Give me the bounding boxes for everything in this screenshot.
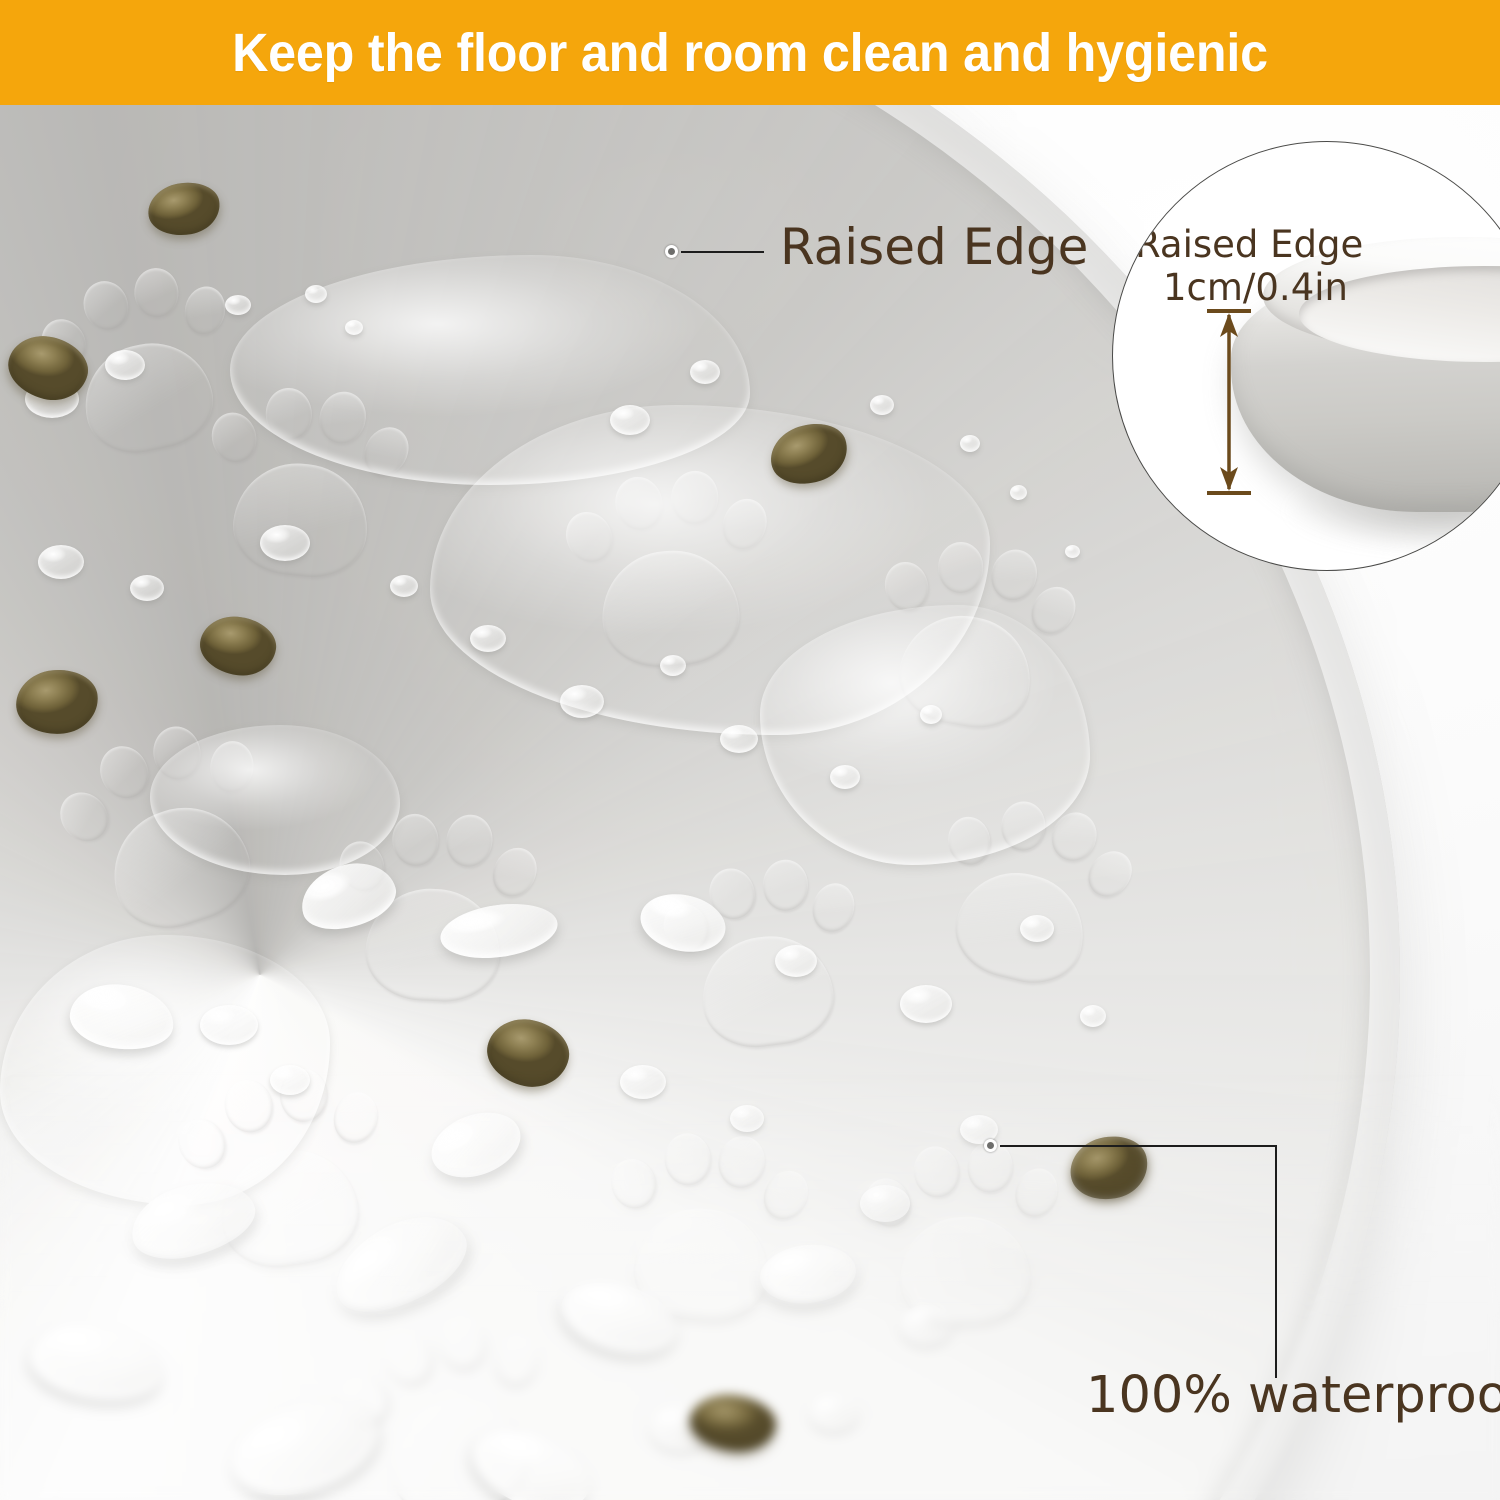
waterproof-leader-dot <box>984 1139 997 1152</box>
inset-label-line2: 1cm/0.4in <box>1135 267 1363 310</box>
raised-edge-callout-label: Raised Edge <box>780 218 1088 276</box>
raised-edge-leader-line <box>681 251 764 253</box>
inset-label: Raised Edge 1cm/0.4in <box>1135 224 1363 310</box>
waterproof-callout-label: 100% waterproof <box>1086 1366 1500 1425</box>
product-feature-image: Keep the floor and room clean and hygien… <box>0 0 1500 1500</box>
inset-photo <box>1113 142 1500 570</box>
raised-edge-magnifier-inset: Raised Edge 1cm/0.4in <box>1112 141 1500 571</box>
dimension-arrow-icon <box>1203 307 1255 497</box>
header-banner: Keep the floor and room clean and hygien… <box>0 0 1500 105</box>
banner-title: Keep the floor and room clean and hygien… <box>53 0 1448 105</box>
raised-edge-leader-dot <box>665 245 678 258</box>
waterproof-leader-line-vertical <box>1275 1145 1277 1378</box>
waterproof-leader-line-horizontal <box>1000 1145 1277 1147</box>
inset-label-line1: Raised Edge <box>1135 223 1363 266</box>
